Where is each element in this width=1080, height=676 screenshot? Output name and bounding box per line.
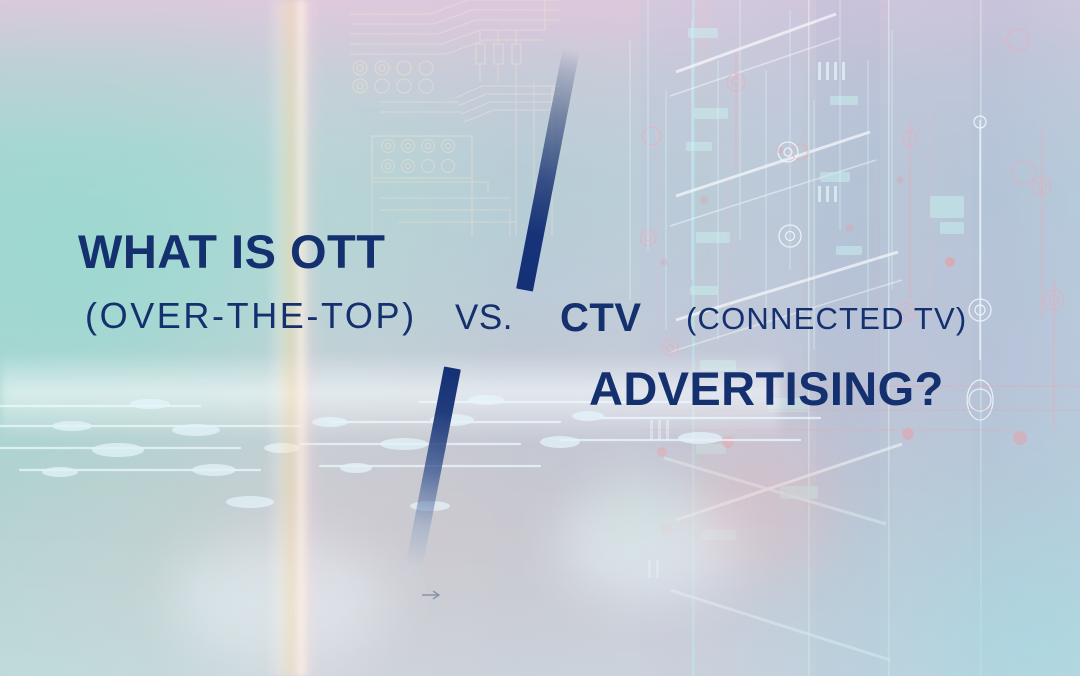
headline-ctv: CTV [560,298,642,338]
headline-vs: VS. [455,300,513,335]
headline-line-3: ADVERTISING? [589,365,944,412]
headline-over-the-top: (OVER-THE-TOP) [85,298,417,334]
headline-connected-tv: (CONNECTED TV) [686,303,967,334]
banner-canvas: WHAT IS OTT (OVER-THE-TOP) VS. CTV (CONN… [0,0,1080,676]
headline-group: WHAT IS OTT (OVER-THE-TOP) VS. CTV (CONN… [0,0,1080,676]
headline-line-1: WHAT IS OTT [78,228,385,275]
